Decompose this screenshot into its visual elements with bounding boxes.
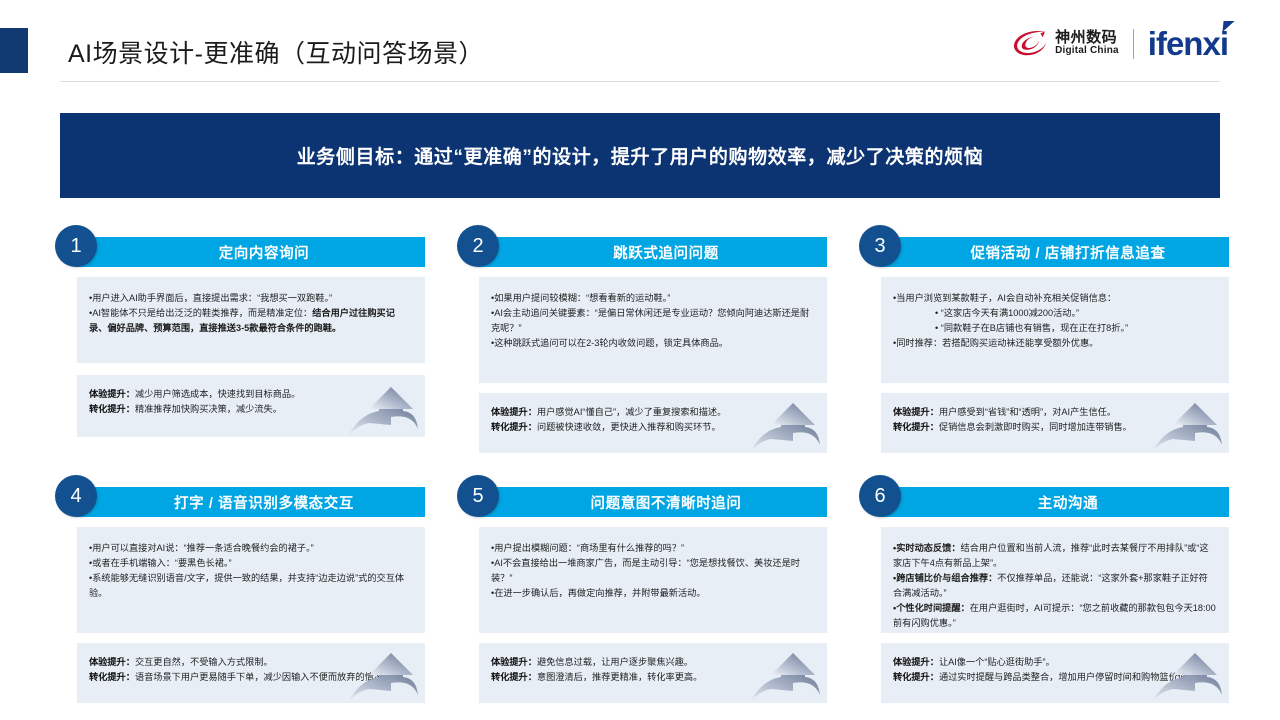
impact-line: 体验提升：让AI像一个“贴心逛街助手”。 <box>893 655 1217 670</box>
card-header-bar: 促销活动 / 店铺打折信息追查 <box>881 237 1229 267</box>
bullet-lead-in: •实时动态反馈： <box>893 543 961 553</box>
card-impact-panel: 体验提升：减少用户筛选成本，快速找到目标商品。转化提升：精准推荐加快购买决策，减… <box>77 375 425 437</box>
digital-china-en: Digital China <box>1055 46 1119 57</box>
impact-label: 体验提升： <box>491 407 537 417</box>
card-title: 促销活动 / 店铺打折信息追查 <box>944 242 1165 263</box>
card-title: 打字 / 语音识别多模态交互 <box>148 492 354 513</box>
impact-line: 转化提升：精准推荐加快购买决策，减少流失。 <box>89 402 413 417</box>
card-body-panel: •用户进入AI助手界面后，直接提出需求：“我想买一双跑鞋。”•AI智能体不只是给… <box>77 277 425 363</box>
scenario-card-grid: 1定向内容询问•用户进入AI助手界面后，直接提出需求：“我想买一双跑鞋。”•AI… <box>55 225 1230 710</box>
card-impact-panel: 体验提升：用户感觉AI“懂自己”，减少了重复搜索和描述。转化提升：问题被快速收敛… <box>479 393 827 453</box>
card-bullet: •实时动态反馈：结合用户位置和当前人流，推荐“此时去某餐厅不用排队”或“这家店下… <box>893 541 1217 571</box>
digital-china-cn: 神州数码 <box>1055 30 1119 46</box>
ifenxi-wordmark: ifenxi <box>1148 25 1228 62</box>
card-title: 跳跃式追问问题 <box>587 242 719 263</box>
card-bullet: •系统能够无缝识别语音/文字，提供一致的结果，并支持“边走边说”式的交互体验。 <box>89 571 413 601</box>
card-bullet: •用户可以直接对AI说：“推荐一条适合晚餐约会的裙子。” <box>89 541 413 556</box>
impact-label: 体验提升： <box>491 657 537 667</box>
impact-label: 转化提升： <box>89 672 135 682</box>
card-bullet: •用户进入AI助手界面后，直接提出需求：“我想买一双跑鞋。” <box>89 291 413 306</box>
card-bullet: •AI不会直接给出一堆商家广告，而是主动引导：“您是想找餐饮、美妆还是时装？” <box>491 556 815 586</box>
digital-china-logo: 神州数码 Digital China <box>1012 28 1119 60</box>
scenario-card-2: 2跳跃式追问问题•如果用户提问较模糊：“想看看新的运动鞋。”•AI会主动追问关键… <box>457 225 827 457</box>
impact-line: 体验提升：用户感受到“省钱”和“透明”，对AI产生信任。 <box>893 405 1217 420</box>
card-bullet: •跨店铺比价与组合推荐：不仅推荐单品，还能说：“这家外套+那家鞋子正好符合满减活… <box>893 571 1217 601</box>
card-body-panel: •用户提出模糊问题：“商场里有什么推荐的吗？”•AI不会直接给出一堆商家广告，而… <box>479 527 827 633</box>
ifenxi-logo: ifenxi <box>1148 27 1232 60</box>
card-impact-panel: 体验提升：用户感受到“省钱”和“透明”，对AI产生信任。转化提升：促销信息会刺激… <box>881 393 1229 453</box>
card-bullet: •或者在手机端输入：“要黑色长裙。” <box>89 556 413 571</box>
card-bullet: •当用户浏览到某款鞋子，AI会自动补充相关促销信息： <box>893 291 1217 306</box>
card-title: 问题意图不清晰时追问 <box>565 492 742 513</box>
card-bullet: •在进一步确认后，再做定向推荐，并附带最新活动。 <box>491 586 815 601</box>
card-bullet: •这种跳跃式追问可以在2-3轮内收敛问题，锁定具体商品。 <box>491 336 815 351</box>
card-bullet: •用户提出模糊问题：“商场里有什么推荐的吗？” <box>491 541 815 556</box>
impact-line: 转化提升：意图澄清后，推荐更精准，转化率更高。 <box>491 670 815 685</box>
card-impact-panel: 体验提升：让AI像一个“贴心逛街助手”。转化提升：通过实时提醒与跨品类整合，增加… <box>881 643 1229 703</box>
impact-label: 体验提升： <box>893 407 939 417</box>
scenario-card-3: 3促销活动 / 店铺打折信息追查•当用户浏览到某款鞋子，AI会自动补充相关促销信… <box>859 225 1229 457</box>
card-body-panel: •实时动态反馈：结合用户位置和当前人流，推荐“此时去某餐厅不用排队”或“这家店下… <box>881 527 1229 633</box>
card-number-badge: 3 <box>859 225 901 267</box>
digital-china-swoosh-icon <box>1012 28 1048 60</box>
scenario-card-1: 1定向内容询问•用户进入AI助手界面后，直接提出需求：“我想买一双跑鞋。”•AI… <box>55 225 425 457</box>
page-title: AI场景设计-更准确（互动问答场景） <box>68 34 484 70</box>
card-impact-panel: 体验提升：避免信息过载，让用户逐步聚焦兴趣。转化提升：意图澄清后，推荐更精准，转… <box>479 643 827 703</box>
card-number-badge: 2 <box>457 225 499 267</box>
card-bullet: • “同款鞋子在B店铺也有销售，现在正在打8折。” <box>893 321 1217 336</box>
impact-line: 体验提升：避免信息过载，让用户逐步聚焦兴趣。 <box>491 655 815 670</box>
impact-line: 转化提升：通过实时提醒与跨品类整合，增加用户停留时间和购物篮价值。 <box>893 670 1217 685</box>
scenario-card-4: 4打字 / 语音识别多模态交互•用户可以直接对AI说：“推荐一条适合晚餐约会的裙… <box>55 475 425 707</box>
card-bullet: •AI智能体不只是给出泛泛的鞋类推荐，而是精准定位：结合用户过往购买记录、偏好品… <box>89 306 413 336</box>
card-number-badge: 5 <box>457 475 499 517</box>
card-header-bar: 定向内容询问 <box>77 237 425 267</box>
card-bullet: •如果用户提问较模糊：“想看看新的运动鞋。” <box>491 291 815 306</box>
card-header-bar: 问题意图不清晰时追问 <box>479 487 827 517</box>
card-impact-panel: 体验提升：交互更自然，不受输入方式限制。转化提升：语音场景下用户更易随手下单，减… <box>77 643 425 703</box>
card-number-badge: 1 <box>55 225 97 267</box>
card-body-panel: •当用户浏览到某款鞋子，AI会自动补充相关促销信息：• “这家店今天有满1000… <box>881 277 1229 383</box>
digital-china-wordmark: 神州数码 Digital China <box>1055 30 1119 56</box>
impact-line: 体验提升：用户感觉AI“懂自己”，减少了重复搜索和描述。 <box>491 405 815 420</box>
impact-label: 体验提升： <box>89 389 135 399</box>
bullet-lead-in: •跨店铺比价与组合推荐： <box>893 573 997 583</box>
ifenxi-flag-icon <box>1222 21 1234 32</box>
card-title: 主动沟通 <box>1012 492 1098 513</box>
card-bullet: •个性化时间提醒：在用户逛街时，AI可提示：“您之前收藏的那款包包今天18:00… <box>893 601 1217 631</box>
card-header-bar: 打字 / 语音识别多模态交互 <box>77 487 425 517</box>
card-bullet: •AI会主动追问关键要素：“是偏日常休闲还是专业运动？您倾向阿迪达斯还是耐克呢？… <box>491 306 815 336</box>
impact-line: 转化提升：语音场景下用户更易随手下单，减少因输入不便而放弃的情况。 <box>89 670 413 685</box>
header-accent-block <box>0 28 28 73</box>
card-header-bar: 跳跃式追问问题 <box>479 237 827 267</box>
impact-label: 体验提升： <box>893 657 939 667</box>
slide: AI场景设计-更准确（互动问答场景） 神州数码 Digital China if… <box>0 0 1280 720</box>
card-header-bar: 主动沟通 <box>881 487 1229 517</box>
impact-label: 体验提升： <box>89 657 135 667</box>
scenario-card-6: 6主动沟通•实时动态反馈：结合用户位置和当前人流，推荐“此时去某餐厅不用排队”或… <box>859 475 1229 707</box>
impact-label: 转化提升： <box>491 672 537 682</box>
impact-label: 转化提升： <box>893 422 939 432</box>
impact-label: 转化提升： <box>491 422 537 432</box>
card-body-panel: •用户可以直接对AI说：“推荐一条适合晚餐约会的裙子。”•或者在手机端输入：“要… <box>77 527 425 633</box>
bullet-emphasis: 结合用户过往购买记录、偏好品牌、预算范围，直接推送3-5款最符合条件的跑鞋。 <box>89 308 395 333</box>
card-body-panel: •如果用户提问较模糊：“想看看新的运动鞋。”•AI会主动追问关键要素：“是偏日常… <box>479 277 827 383</box>
logo-separator <box>1133 29 1134 59</box>
card-bullet: • “这家店今天有满1000减200活动。” <box>893 306 1217 321</box>
card-bullet: •同时推荐：若搭配购买运动袜还能享受额外优惠。 <box>893 336 1217 351</box>
impact-line: 体验提升：减少用户筛选成本，快速找到目标商品。 <box>89 387 413 402</box>
scenario-card-5: 5问题意图不清晰时追问•用户提出模糊问题：“商场里有什么推荐的吗？”•AI不会直… <box>457 475 827 707</box>
objective-banner-text: 业务侧目标：通过“更准确”的设计，提升了用户的购物效率，减少了决策的烦恼 <box>297 142 984 169</box>
impact-label: 转化提升： <box>893 672 939 682</box>
card-number-badge: 6 <box>859 475 901 517</box>
bullet-lead-in: •个性化时间提醒： <box>893 603 970 613</box>
objective-banner: 业务侧目标：通过“更准确”的设计，提升了用户的购物效率，减少了决策的烦恼 <box>60 113 1220 198</box>
header-divider <box>60 81 1220 82</box>
logo-group: 神州数码 Digital China ifenxi <box>1012 27 1232 60</box>
impact-label: 转化提升： <box>89 404 135 414</box>
impact-line: 转化提升：促销信息会刺激即时购买，同时增加连带销售。 <box>893 420 1217 435</box>
impact-line: 转化提升：问题被快速收敛，更快进入推荐和购买环节。 <box>491 420 815 435</box>
card-title: 定向内容询问 <box>193 242 310 263</box>
slide-header: AI场景设计-更准确（互动问答场景） 神州数码 Digital China if… <box>0 0 1280 82</box>
card-number-badge: 4 <box>55 475 97 517</box>
impact-line: 体验提升：交互更自然，不受输入方式限制。 <box>89 655 413 670</box>
